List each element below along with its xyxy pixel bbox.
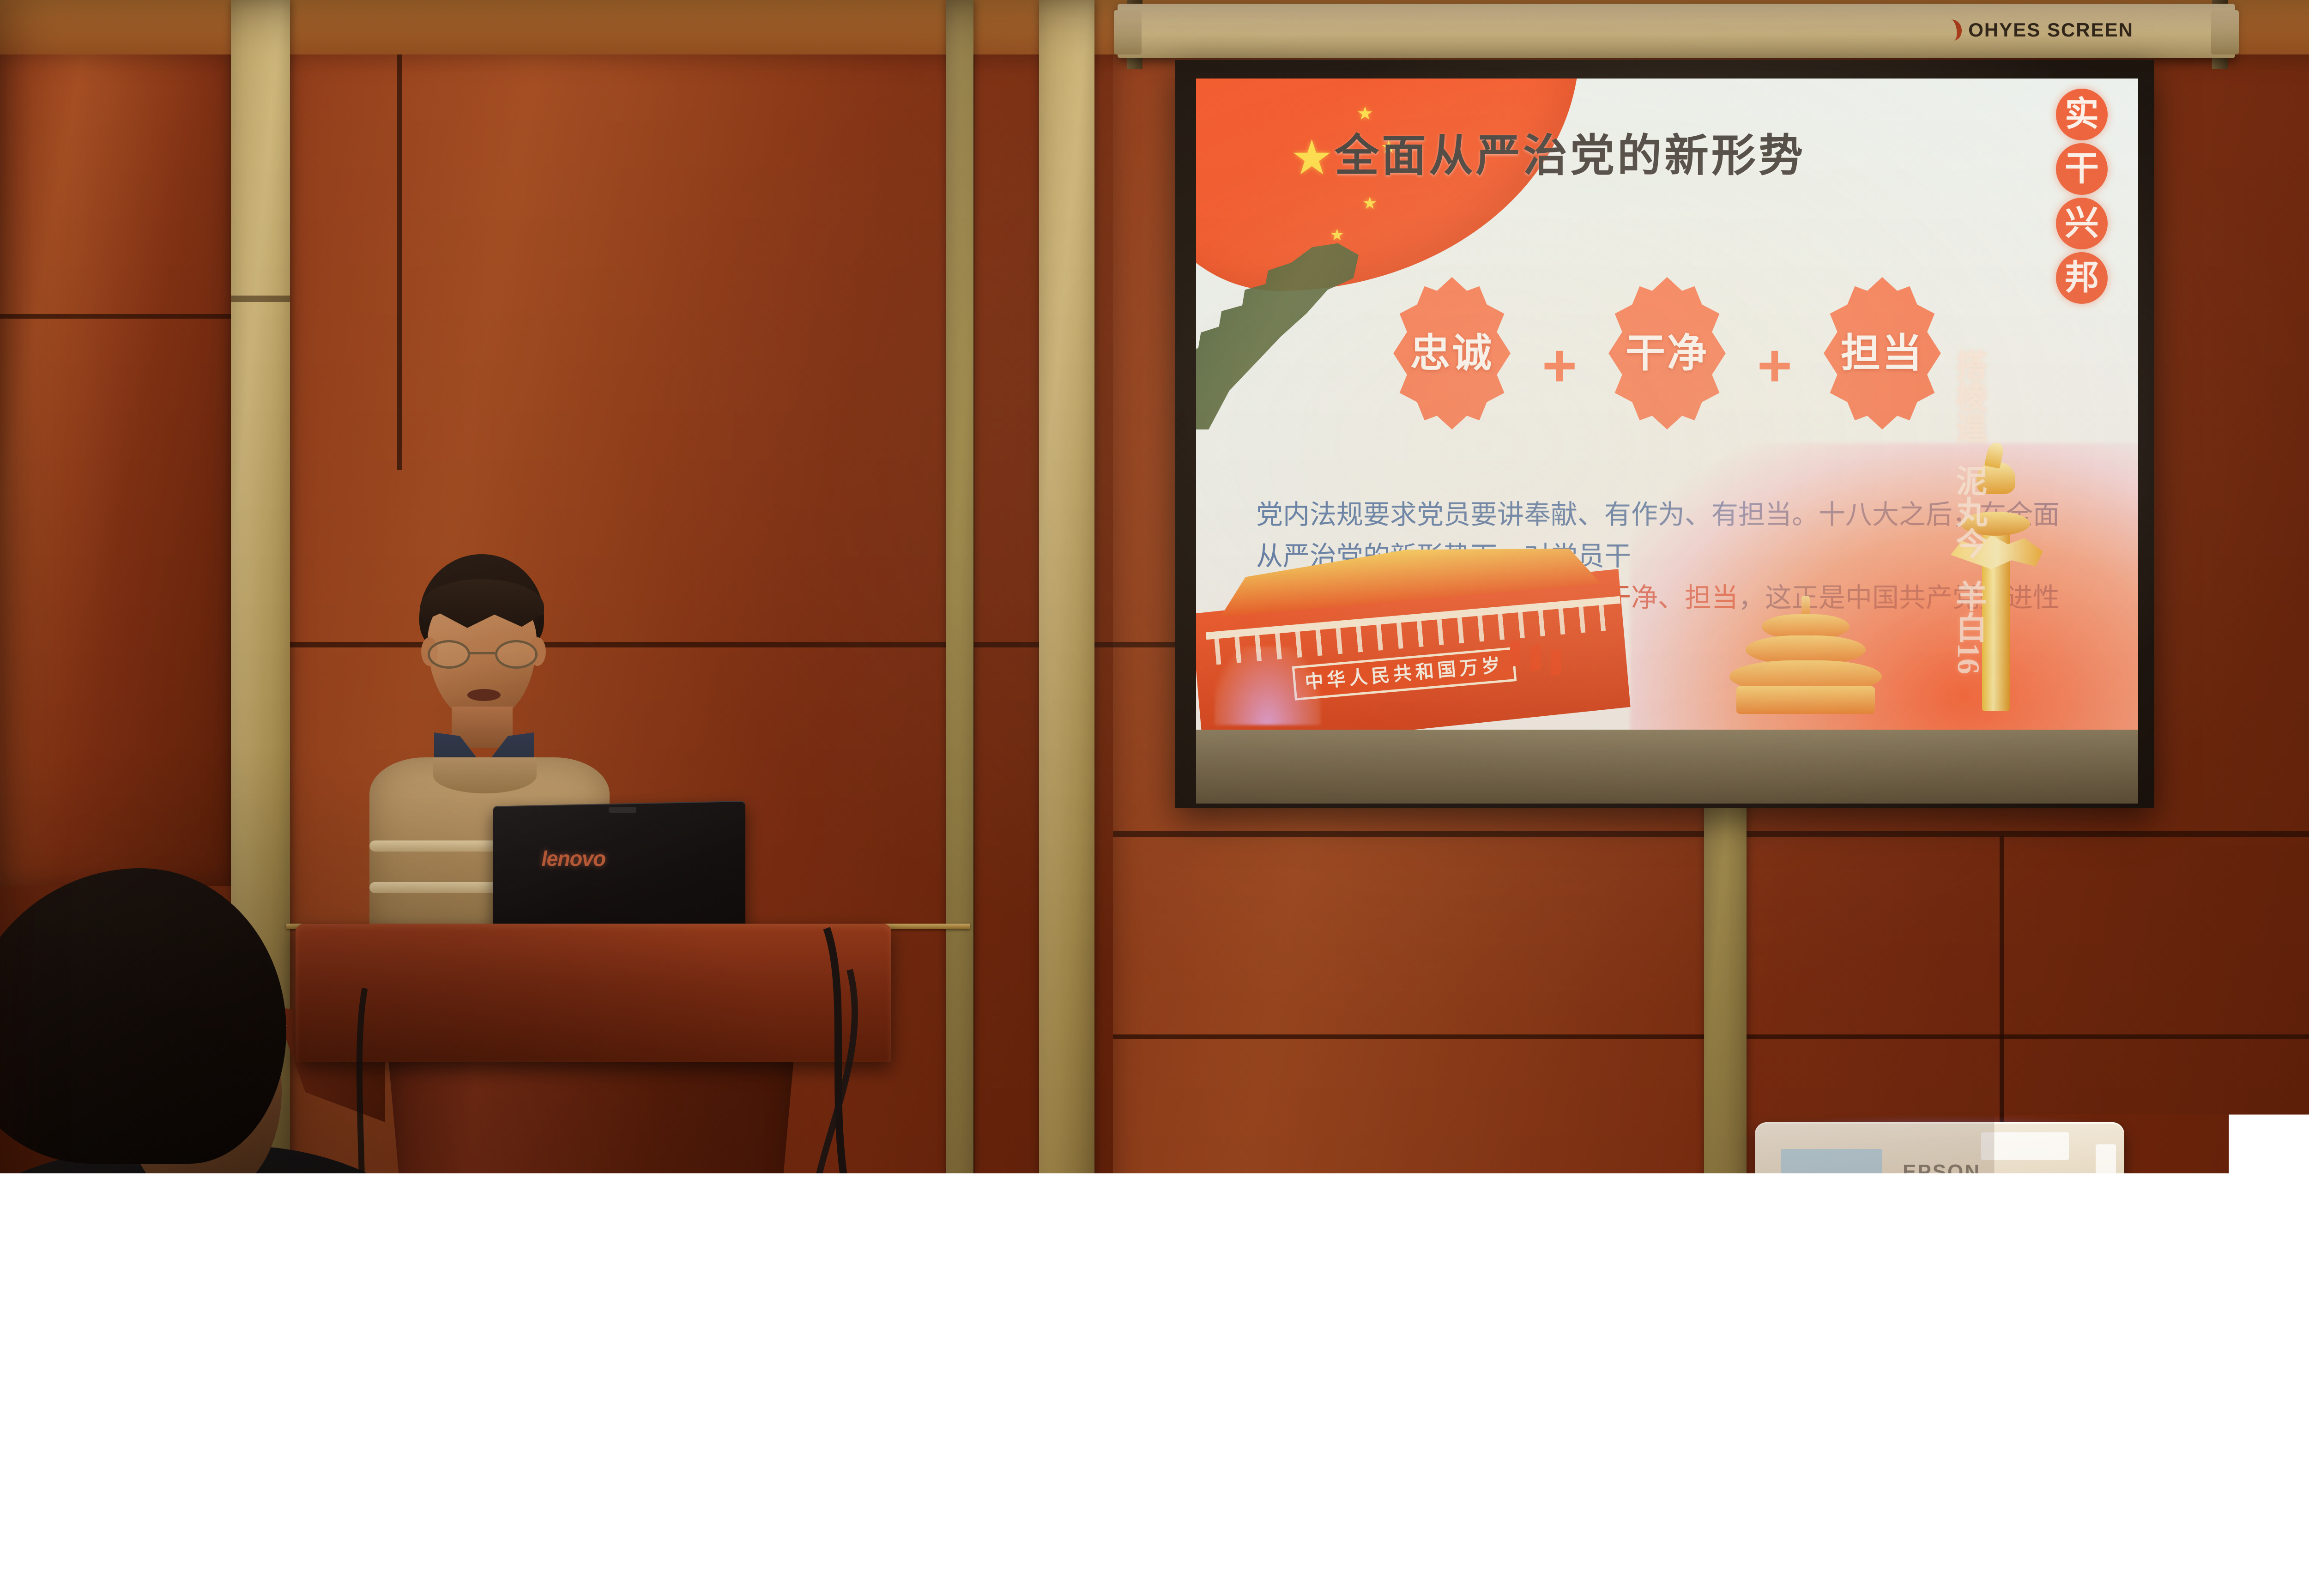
mini-flag-3 xyxy=(1551,649,1561,677)
plate-label-cable: CABLE xyxy=(1275,1233,1293,1239)
tv-jack[interactable] xyxy=(1274,1203,1286,1215)
carpet-shading xyxy=(0,1379,2309,1596)
table-reflection xyxy=(1552,1232,1773,1283)
housing-end-left xyxy=(1114,10,1142,54)
audience-jacket-collar xyxy=(51,1173,291,1325)
laptop-camera-icon xyxy=(609,807,636,813)
presenter-glasses xyxy=(428,640,538,669)
mini-flag-1 xyxy=(1510,640,1520,667)
presenter-neckline xyxy=(433,757,537,793)
data-jack[interactable] xyxy=(1253,1203,1265,1215)
projector-sticker-white xyxy=(1981,1132,2069,1160)
plus-sign-1: + xyxy=(1542,335,1577,395)
glasses-lens-left xyxy=(428,640,470,669)
flag-star-s3: ★ xyxy=(1362,195,1377,212)
huabiao-disc xyxy=(1961,512,2030,536)
plate-label-tv: TV xyxy=(1276,1217,1283,1223)
screen-brand-logo: OHYES SCREEN xyxy=(1946,19,2134,41)
badge-dandang: 担当 xyxy=(1820,277,1945,429)
cable-jack[interactable] xyxy=(1263,1230,1273,1239)
wall-pilaster-2 xyxy=(946,0,973,1265)
badge-ganjing: 干净 xyxy=(1605,277,1729,429)
seal-char-1: 实 xyxy=(2056,89,2108,140)
port-audio-l[interactable] xyxy=(1892,1211,1904,1223)
seal-char-3: 兴 xyxy=(2056,198,2108,249)
port-video-in[interactable] xyxy=(1916,1211,1928,1223)
glasses-bridge xyxy=(470,652,495,654)
badge-label: 担当 xyxy=(1841,333,1924,373)
flag-star-s1: ★ xyxy=(1357,104,1373,123)
badge-row: 忠诚 + 干净 + 担当 xyxy=(1196,277,2138,429)
panel-seam-v1 xyxy=(397,54,402,470)
projector-sticker-side xyxy=(2096,1144,2116,1200)
pink-haze-overlay xyxy=(1630,443,2138,730)
laptop[interactable]: lenovo xyxy=(485,804,743,942)
projector-speaker-grille xyxy=(2049,1191,2108,1251)
temple-tier-2 xyxy=(1746,635,1866,664)
projector[interactable]: EPSON USB-A USB-B Audio Video Computer H… xyxy=(1755,1122,2124,1256)
housing-end-right xyxy=(2211,10,2239,54)
photo-scene: DATA TV CABLE OHYES SCREEN ★ ★ ★ ★ ★ xyxy=(0,0,2309,1596)
port-label-svideo: S-Video xyxy=(1899,1183,1918,1189)
plate-label-data: DATA xyxy=(1252,1217,1266,1223)
projector-port-labels: USB-A USB-B Audio Video Computer HDMI xyxy=(1833,1191,2032,1198)
slide-title: 全面从严治党的新形势 xyxy=(1335,134,1806,178)
port-usb-b[interactable] xyxy=(1868,1213,1882,1225)
glasses-lens-right xyxy=(495,640,538,669)
port-audio-r[interactable] xyxy=(1892,1229,1904,1241)
swoosh-icon xyxy=(1945,18,1963,42)
port-label-hdmi: HDMI xyxy=(2014,1191,2032,1198)
projector-foot-left xyxy=(1780,1255,1805,1269)
fountain-spray xyxy=(1215,647,1321,725)
slide-canvas: ★ ★ ★ ★ ★ 全面从严治党的新形势 实 干 兴 邦 忠诚 + 干净 xyxy=(1196,79,2138,730)
flag-star-big: ★ xyxy=(1290,134,1333,182)
table-edge xyxy=(1542,1288,2189,1312)
projection-surface[interactable]: ★ ★ ★ ★ ★ 全面从严治党的新形势 实 干 兴 邦 忠诚 + 干净 xyxy=(1196,79,2138,730)
projector-foot-right xyxy=(2064,1255,2089,1269)
port-label-audio: Audio xyxy=(1905,1191,1922,1198)
screen-bottom-strip xyxy=(1196,730,2138,804)
port-video-y[interactable] xyxy=(1916,1229,1928,1241)
projector-sticker-blue xyxy=(1781,1149,1882,1175)
port-hdmi[interactable] xyxy=(1983,1212,2010,1222)
wood-panel-left xyxy=(0,54,231,886)
temple-base xyxy=(1736,686,1875,714)
wall-plate-data-tv[interactable]: DATA TV CABLE xyxy=(1242,1191,1300,1249)
mini-flag-2 xyxy=(1530,645,1541,672)
huabiao-column-illustration xyxy=(1958,453,2032,711)
projector-brand-logo: EPSON xyxy=(1903,1162,1981,1182)
flag-star-s4: ★ xyxy=(1330,227,1344,243)
wall-pilaster-3 xyxy=(1039,0,1094,1265)
port-label-computer: Computer xyxy=(1969,1191,2000,1198)
port-label-usb-a: USB-A xyxy=(1833,1191,1855,1198)
badge-label: 干净 xyxy=(1626,333,1709,373)
projector-port-bank[interactable] xyxy=(1833,1203,2018,1250)
badge-zhongcheng: 忠诚 xyxy=(1390,277,1514,429)
port-power-inlet[interactable] xyxy=(1983,1228,2001,1244)
presenter-mouth xyxy=(467,689,501,701)
port-label-video: Video xyxy=(1937,1191,1955,1198)
temple-of-heaven-illustration xyxy=(1727,596,1884,711)
socket-opening xyxy=(2300,1215,2309,1246)
plus-sign-2: + xyxy=(1757,335,1792,395)
tiananmen-gate-illustration: 中华人民共和国万岁 xyxy=(1196,536,1649,730)
pilaster-cap-1 xyxy=(231,296,290,302)
screen-brand-text: OHYES SCREEN xyxy=(1968,20,2134,40)
port-computer-vga[interactable] xyxy=(1940,1211,1976,1225)
wall-plate-power-far-right[interactable] xyxy=(2291,1205,2309,1256)
port-usb-a[interactable] xyxy=(1840,1213,1860,1225)
seal-stamp-group: 实 干 兴 邦 xyxy=(2056,89,2108,304)
audience-hair xyxy=(0,868,286,1164)
badge-label: 忠诚 xyxy=(1410,333,1493,373)
seal-char-2: 干 xyxy=(2056,143,2108,195)
laptop-brand-logo: lenovo xyxy=(542,848,606,869)
screen-housing[interactable]: OHYES SCREEN xyxy=(1118,4,2235,58)
port-label-usb-b: USB-B xyxy=(1869,1191,1890,1198)
flag-shape xyxy=(1196,79,1579,291)
